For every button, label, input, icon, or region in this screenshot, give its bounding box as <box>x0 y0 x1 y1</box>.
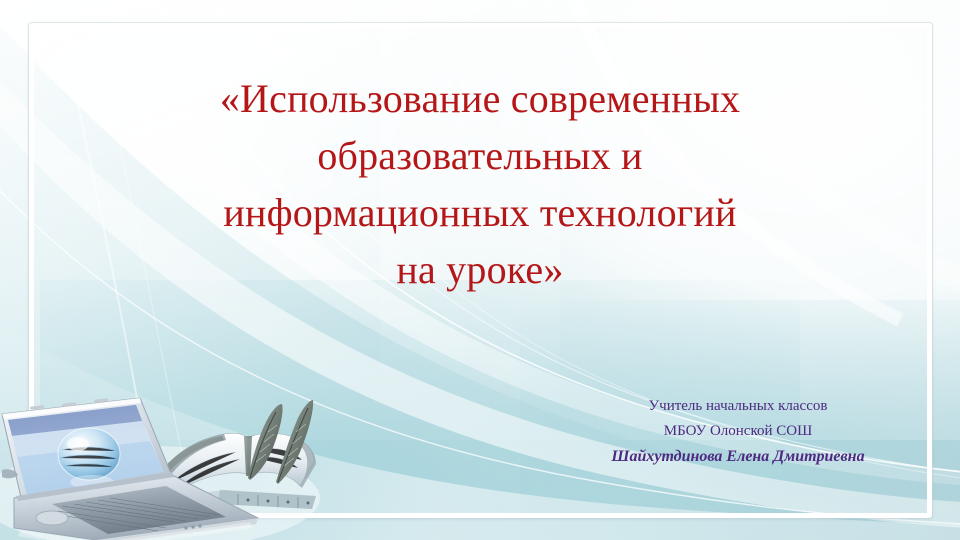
title-line-2: образовательных и <box>80 127 880 184</box>
title-line-1: «Использование современных <box>80 70 880 127</box>
slide-subtitle: Учитель начальных классов МБОУ Олонской … <box>548 394 928 469</box>
slide-title: «Использование современных образовательн… <box>80 70 880 298</box>
title-line-4: на уроке» <box>80 241 880 298</box>
subtitle-line-school: МБОУ Олонской СОШ <box>548 419 928 444</box>
presentation-slide: «Использование современных образовательн… <box>0 0 960 540</box>
subtitle-line-author: Шайхутдинова Елена Дмитриевна <box>548 444 928 469</box>
subtitle-line-position: Учитель начальных классов <box>548 394 928 419</box>
title-line-3: информационных технологий <box>80 184 880 241</box>
